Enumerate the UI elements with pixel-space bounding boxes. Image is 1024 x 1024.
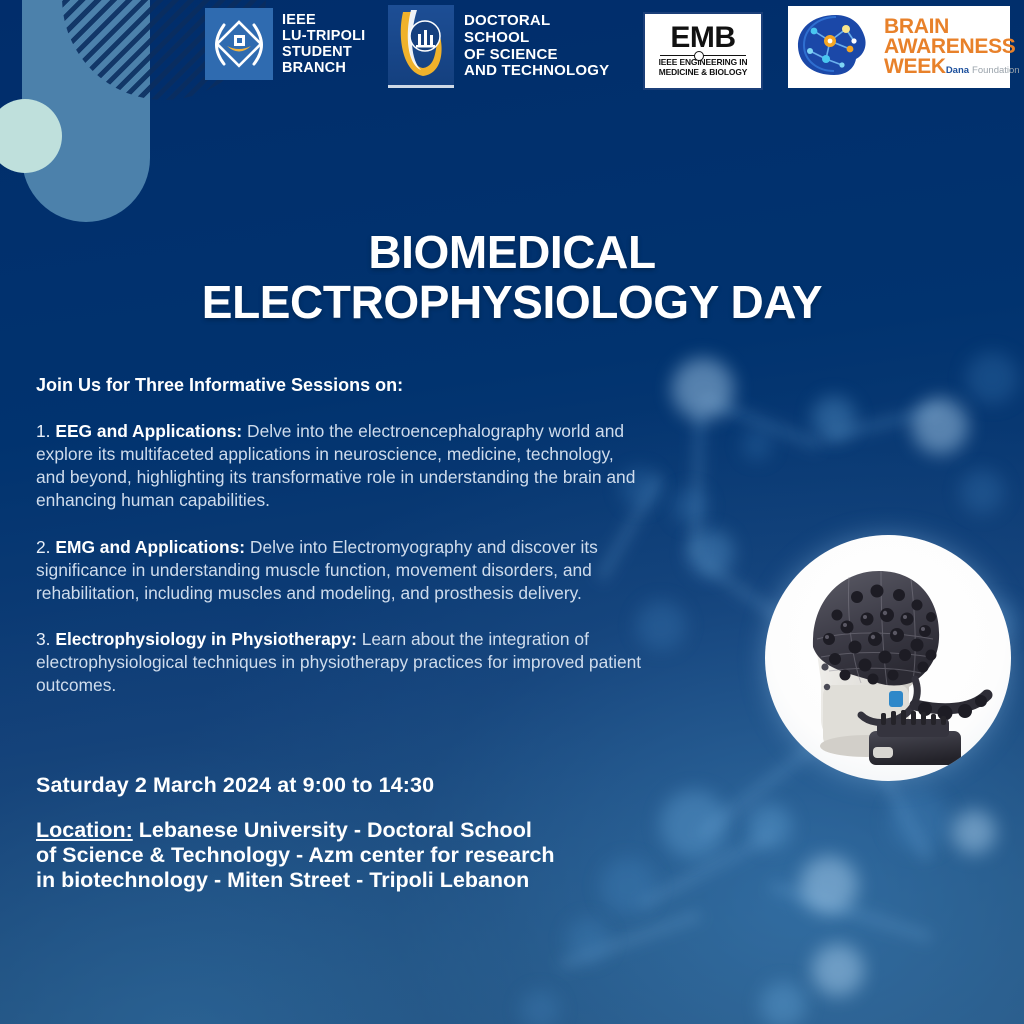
emb-word-text: EMB	[670, 24, 735, 52]
baw-line3: WEEK	[884, 57, 946, 77]
logo-ieee-emb: EMB IEEE ENGINEERING IN MEDICINE & BIOLO…	[643, 12, 763, 90]
baw-line2: AWARENESS	[884, 37, 1020, 57]
emb-wordmark: EMB	[670, 24, 735, 52]
sessions-section: Join Us for Three Informative Sessions o…	[36, 374, 642, 720]
session-item: 3. Electrophysiology in Physiotherapy: L…	[36, 628, 642, 697]
logo-ieee-label: IEEE LU-TRIPOLI STUDENT BRANCH	[282, 12, 365, 77]
eeg-cap-on-mannequin-head-photo	[765, 535, 1011, 781]
session-number: 3.	[36, 629, 51, 649]
baw-card: BRAIN AWARENESS WEEK Dana Foundation	[788, 6, 1010, 88]
location-label: Location:	[36, 818, 133, 842]
session-number: 1.	[36, 421, 51, 441]
event-datetime: Saturday 2 March 2024 at 9:00 to 14:30	[36, 773, 434, 798]
logo-doctoral-school: DOCTORAL SCHOOL OF SCIENCE AND TECHNOLOG…	[388, 5, 609, 88]
session-topic: EMG and Applications:	[55, 537, 245, 557]
logo-doctoral-school-label: DOCTORAL SCHOOL OF SCIENCE AND TECHNOLOG…	[464, 13, 609, 80]
session-topic: Electrophysiology in Physiotherapy:	[55, 629, 357, 649]
baw-wordmark: BRAIN AWARENESS WEEK Dana Foundation	[884, 17, 1020, 77]
poster-canvas: IEEE LU-TRIPOLI STUDENT BRANCH DOCTORAL …	[0, 0, 1024, 1024]
baw-sponsor-light: Foundation	[972, 65, 1020, 76]
sessions-lede: Join Us for Three Informative Sessions o…	[36, 374, 642, 398]
baw-footer: WEEK Dana Foundation	[884, 57, 1020, 77]
baw-sponsor-bold: Dana	[946, 65, 969, 76]
session-topic: EEG and Applications:	[55, 421, 242, 441]
brain-network-icon	[792, 11, 880, 84]
baw-line1: BRAIN	[884, 17, 1020, 37]
emb-subtitle: IEEE ENGINEERING IN MEDICINE & BIOLOGY	[659, 58, 748, 77]
logo-brain-awareness-week: BRAIN AWARENESS WEEK Dana Foundation	[788, 6, 1010, 88]
session-number: 2.	[36, 537, 51, 557]
emb-card: EMB IEEE ENGINEERING IN MEDICINE & BIOLO…	[643, 12, 763, 90]
page-title: BIOMEDICAL ELECTROPHYSIOLOGY DAY	[0, 228, 1024, 327]
session-item: 1. EEG and Applications: Delve into the …	[36, 420, 642, 513]
doctoral-school-flame-icon	[388, 5, 454, 88]
emb-divider-rule	[660, 55, 746, 57]
session-item: 2. EMG and Applications: Delve into Elec…	[36, 536, 642, 605]
event-location: Location: Lebanese University - Doctoral…	[36, 818, 556, 893]
